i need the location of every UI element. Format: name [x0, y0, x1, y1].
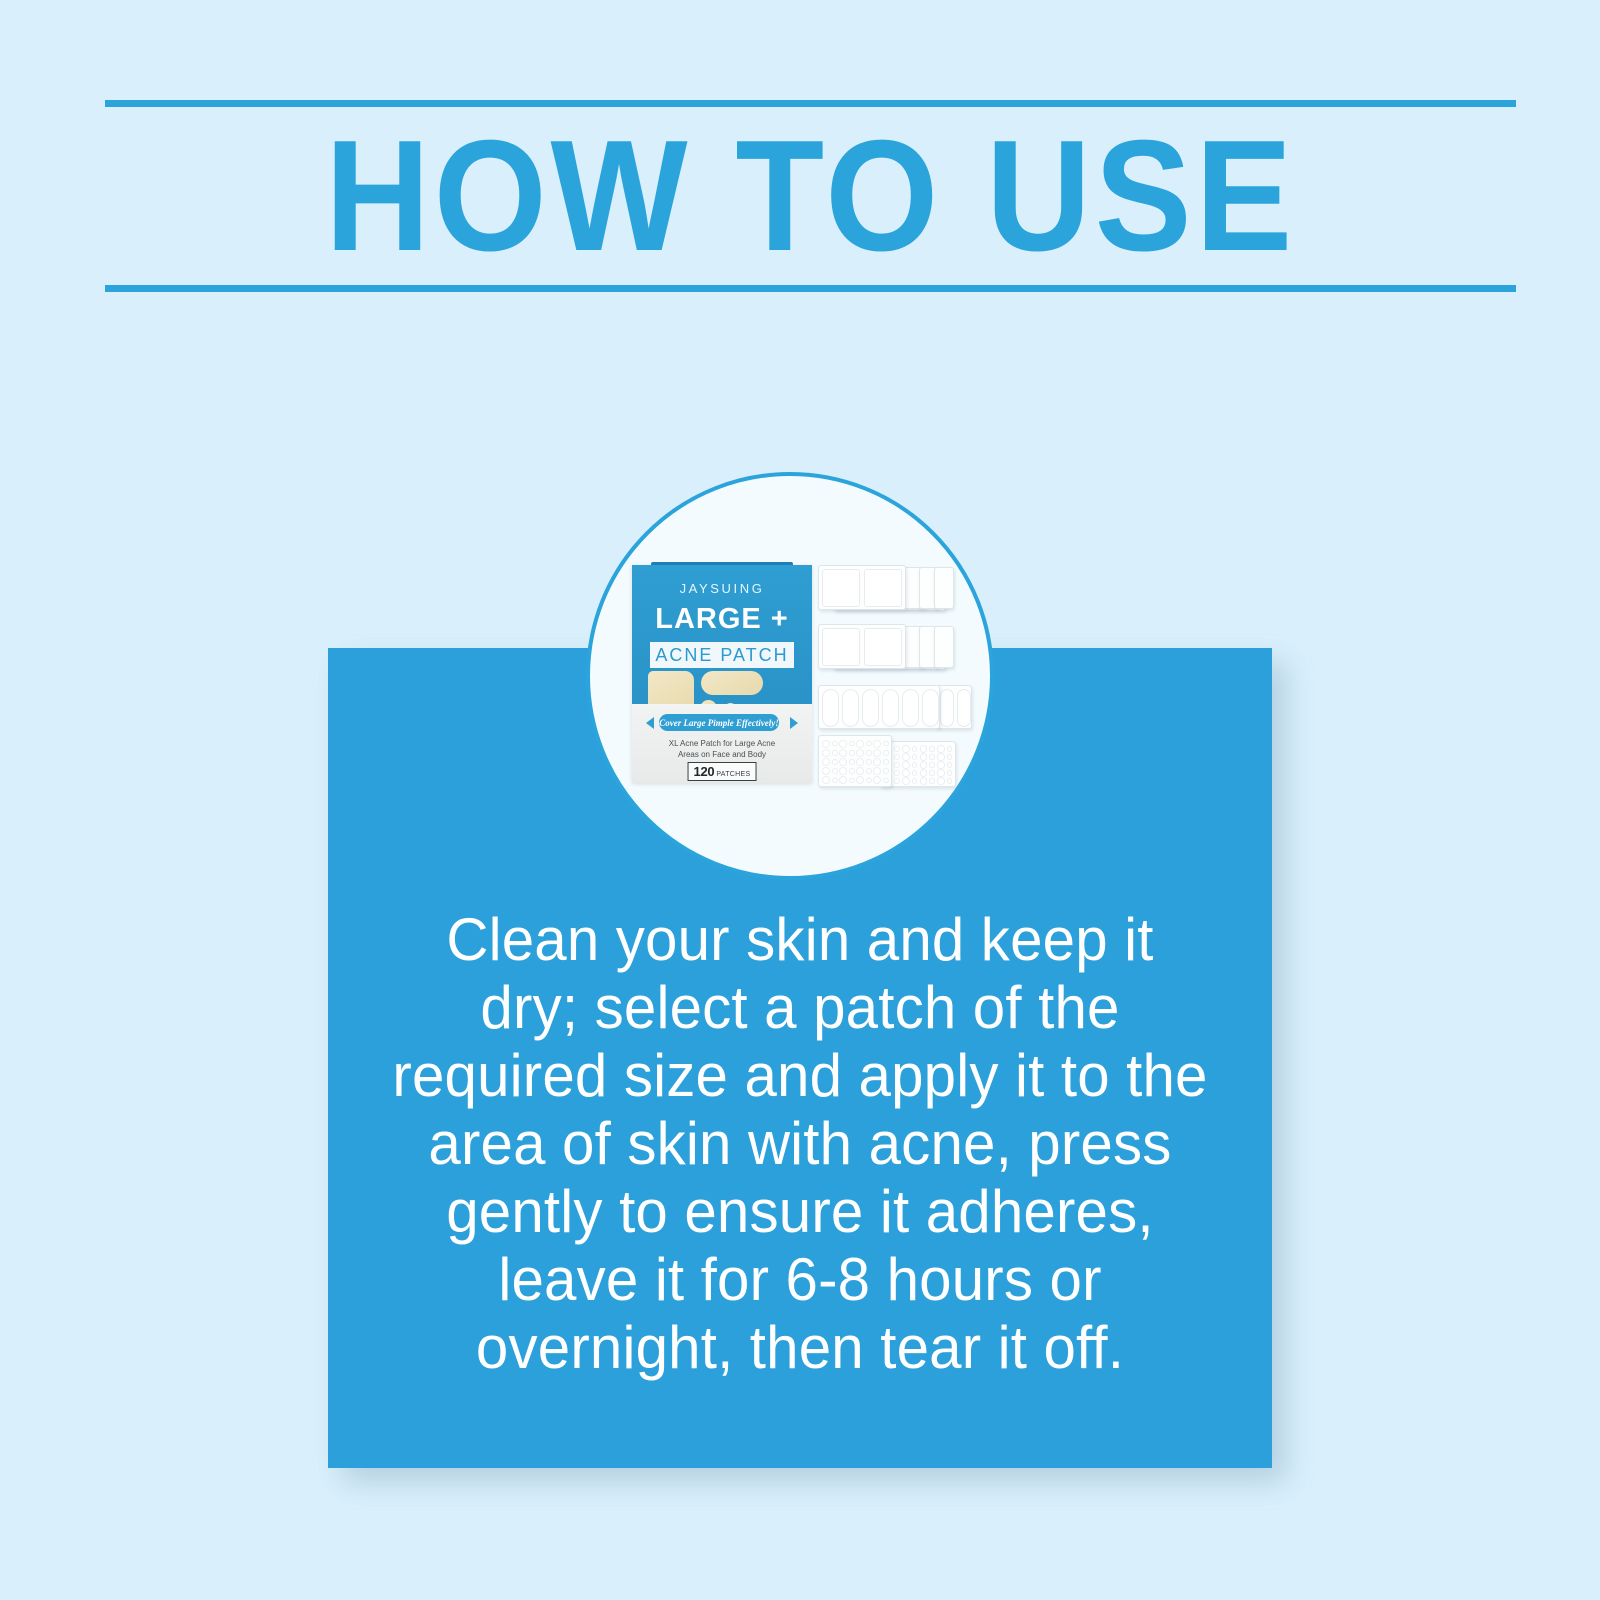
patch-cell-dot: [822, 758, 830, 766]
patch-cell-dot: [839, 740, 847, 748]
package-title-band: ACNE PATCH: [650, 642, 794, 668]
patch-cell-dot: [839, 758, 847, 766]
patch-cell-dot: [883, 759, 889, 765]
patch-sheet-pill: [818, 685, 940, 729]
package-bottom-panel: Cover Large Pimple Effectively! XL Acne …: [632, 704, 812, 783]
patch-cell-dot: [947, 778, 952, 783]
package-subcopy: XL Acne Patch for Large Acne Areas on Fa…: [632, 738, 812, 760]
patch-cell-dot: [832, 741, 838, 747]
patch-cell-dot: [883, 741, 889, 747]
patch-cell-dot: [849, 750, 855, 756]
patch-cell-dot: [866, 768, 872, 774]
package-count-number: 120: [694, 764, 715, 779]
patch-cell-dot: [839, 776, 847, 784]
patch-sheet-large-1: [818, 565, 906, 610]
patch-cell-dot: [947, 770, 952, 775]
patch-cell-dot: [912, 754, 917, 759]
patch-cell: [864, 628, 902, 666]
patch-cell-dot: [866, 778, 872, 784]
arrow-left-icon: [790, 717, 798, 729]
patch-cell-dot: [920, 761, 927, 768]
patch-cell-dot: [832, 768, 838, 774]
package-subcopy-line2: Areas on Face and Body: [632, 749, 812, 760]
patch-cell-dot: [937, 761, 944, 768]
package-title-line2: ACNE PATCH: [655, 645, 788, 666]
patch-cell-dot: [822, 767, 830, 775]
patch-cell-dot: [929, 754, 934, 759]
patch-cell-dot: [902, 745, 909, 752]
patch-cell-dot: [822, 740, 830, 748]
patch-cell-pill: [882, 689, 899, 727]
patch-cell-dot: [883, 750, 889, 756]
patch-cell-dot: [894, 778, 899, 783]
patch-cell-dot: [832, 750, 838, 756]
patch-cell-dot: [937, 745, 944, 752]
patch-cell-dot: [920, 753, 927, 760]
arrow-right-icon: [646, 717, 654, 729]
patch-cell-dot: [947, 754, 952, 759]
patch-cell-dot: [912, 746, 917, 751]
patch-cell-dot: [929, 778, 934, 783]
patch-cell-dot: [856, 740, 864, 748]
patch-cell-dot: [947, 762, 952, 767]
patch-cell-dot: [849, 759, 855, 765]
patch-cell-dot: [894, 754, 899, 759]
patch-cell-dot: [883, 778, 889, 784]
package-title-line1: LARGE +: [632, 603, 812, 636]
patch-cell-dot: [849, 768, 855, 774]
patch-cell-pill: [862, 689, 879, 727]
patch-cell-pill: [957, 689, 971, 727]
patch-sheet-pill-side: [936, 685, 972, 729]
patch-cell-dot: [902, 769, 909, 776]
patch-cell-dot: [937, 769, 944, 776]
patch-sheet-small-1-c: [934, 567, 954, 609]
patch-cell-dot: [856, 767, 864, 775]
patch-cell-dot: [832, 759, 838, 765]
patch-cell-dot: [902, 753, 909, 760]
patch-cell-dot: [894, 746, 899, 751]
patch-cell-dot: [912, 770, 917, 775]
package-tagline-badge: Cover Large Pimple Effectively!: [659, 714, 779, 731]
patch-cell-dot: [856, 749, 864, 757]
patch-cell-dot: [873, 758, 881, 766]
patch-cell-dot: [929, 746, 934, 751]
patch-cell: [864, 569, 902, 607]
product-image-medallion: JAYSUING LARGE + ACNE PATCH Cover Large …: [586, 472, 994, 880]
patch-cell-dot: [883, 768, 889, 774]
patch-cell-dot: [873, 776, 881, 784]
patch-cell-pill: [902, 689, 919, 727]
package-count-word: PATCHES: [716, 771, 750, 778]
header-rule-bottom: [105, 285, 1516, 292]
patch-cell: [822, 569, 860, 607]
patch-cell-dot: [902, 761, 909, 768]
patch-cell-dot: [822, 749, 830, 757]
patch-sheet-dots-large: [818, 735, 892, 787]
patch-cell-dot: [873, 740, 881, 748]
patch-cell-dot: [856, 758, 864, 766]
patch-sheets-group: [818, 565, 968, 787]
page-header: HOW TO USE: [105, 100, 1516, 292]
patch-cell-dot: [894, 770, 899, 775]
patch-cell: [822, 628, 860, 666]
patch-cell-dot: [937, 777, 944, 784]
patch-cell-dot: [822, 776, 830, 784]
package-brand-name: JAYSUING: [632, 581, 812, 596]
patch-cell-dot: [912, 778, 917, 783]
patch-cell-dot: [839, 749, 847, 757]
package-front-panel: JAYSUING LARGE + ACNE PATCH: [632, 565, 812, 704]
product-package: JAYSUING LARGE + ACNE PATCH Cover Large …: [632, 565, 812, 783]
package-subcopy-line1: XL Acne Patch for Large Acne: [632, 738, 812, 749]
patch-cell-dot: [849, 778, 855, 784]
patch-cell-dot: [929, 762, 934, 767]
patch-cell-dot: [894, 762, 899, 767]
patch-cell-dot: [929, 770, 934, 775]
patch-cell-dot: [912, 762, 917, 767]
patch-cell-dot: [873, 767, 881, 775]
patch-cell-dot: [866, 741, 872, 747]
package-count-badge: 120 PATCHES: [688, 762, 757, 781]
page-title: HOW TO USE: [161, 106, 1459, 286]
patch-cell-pill: [922, 689, 939, 727]
patch-sample-pill-icon: [701, 671, 763, 695]
patch-sheet-small-2-c: [934, 626, 954, 668]
patch-cell-dot: [832, 778, 838, 784]
patch-cell-dot: [856, 776, 864, 784]
patch-cell-dot: [920, 769, 927, 776]
patch-cell-pill: [842, 689, 859, 727]
patch-cell-dot: [873, 749, 881, 757]
patch-cell-dot: [839, 767, 847, 775]
package-tagline-text: Cover Large Pimple Effectively!: [659, 718, 779, 728]
patch-cell-dot: [920, 777, 927, 784]
patch-cell-dot: [849, 741, 855, 747]
patch-sheet-large-2: [818, 624, 906, 669]
instructions-text: Clean your skin and keep it dry; select …: [391, 906, 1210, 1382]
patch-cell-dot: [947, 746, 952, 751]
patch-cell-dot: [902, 777, 909, 784]
patch-cell-dot: [866, 750, 872, 756]
patch-cell-pill: [940, 689, 954, 727]
patch-cell-dot: [937, 753, 944, 760]
patch-cell-dot: [866, 759, 872, 765]
patch-cell-dot: [920, 745, 927, 752]
patch-cell-pill: [822, 689, 839, 727]
